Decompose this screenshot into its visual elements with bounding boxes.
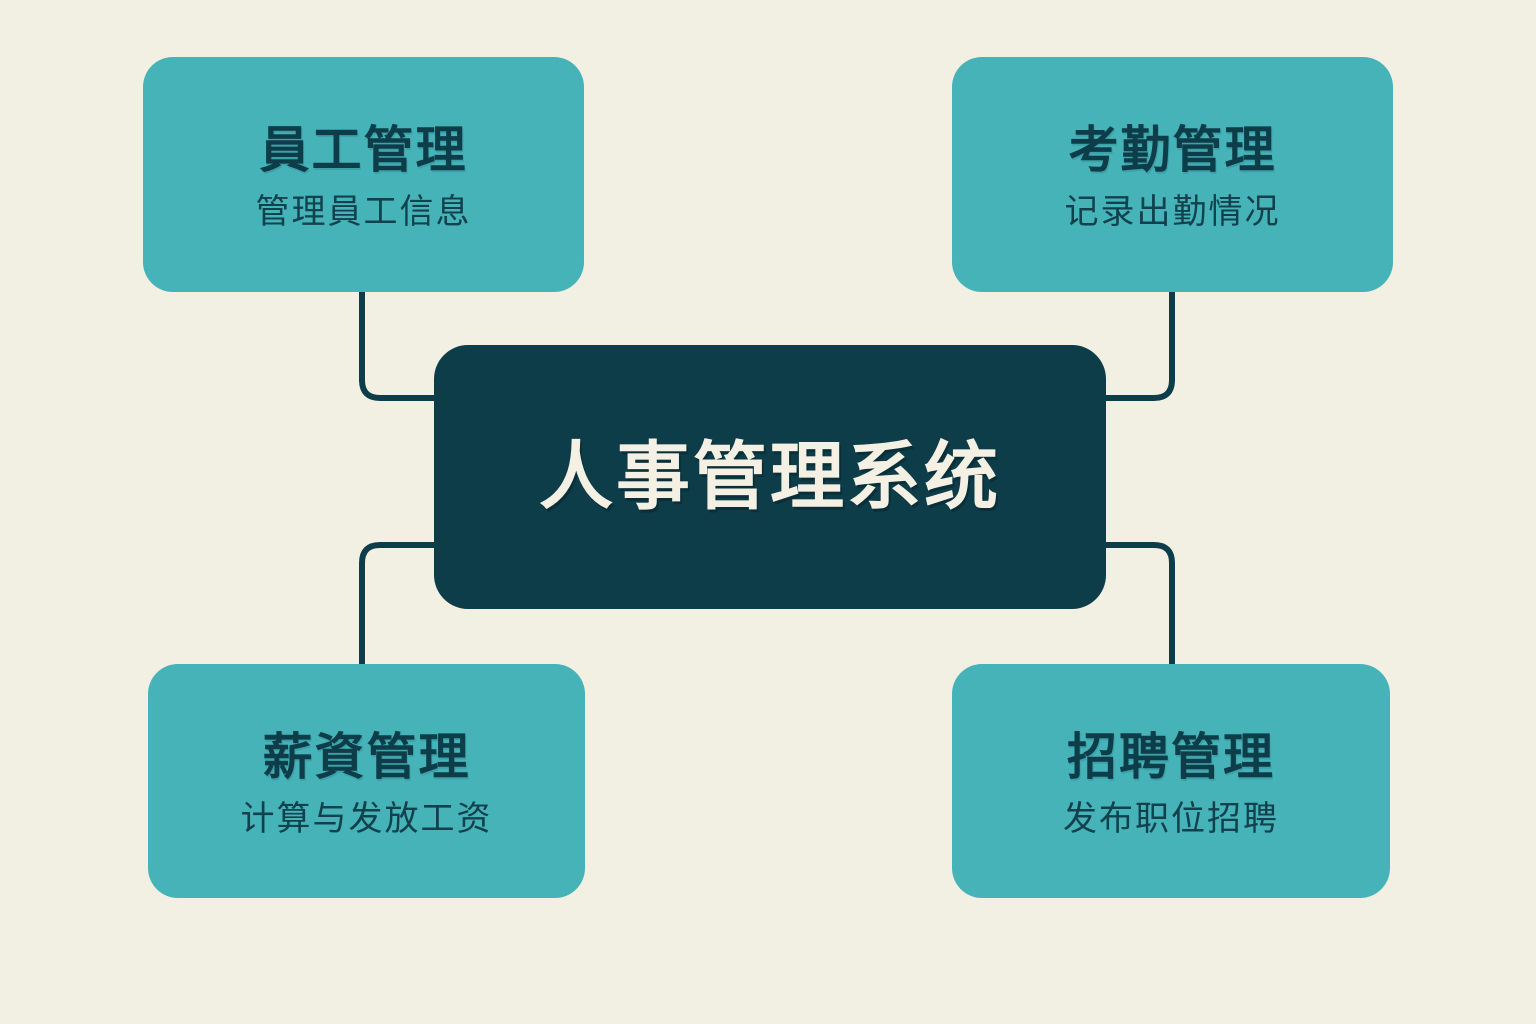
- node-title: 員工管理: [260, 122, 468, 178]
- node-title: 招聘管理: [1067, 729, 1275, 785]
- node-recruitment-management[interactable]: 招聘管理 发布职位招聘: [952, 664, 1390, 898]
- connector-center-to-recruitment: [1104, 545, 1172, 666]
- node-payroll-management[interactable]: 薪資管理 计算与发放工资: [148, 664, 585, 898]
- node-employee-management[interactable]: 員工管理 管理員工信息: [143, 57, 584, 292]
- node-subtitle: 管理員工信息: [256, 192, 472, 233]
- node-subtitle: 计算与发放工资: [241, 799, 493, 840]
- diagram-canvas: 員工管理 管理員工信息 考勤管理 记录出勤情况 人事管理系统 薪資管理 计算与发…: [0, 0, 1536, 1024]
- center-node-title: 人事管理系统: [539, 436, 1001, 517]
- node-subtitle: 发布职位招聘: [1063, 799, 1279, 840]
- node-title: 考勤管理: [1069, 122, 1277, 178]
- connector-center-to-payroll: [362, 545, 436, 666]
- connector-employee-to-center: [362, 292, 436, 398]
- node-hr-management-system[interactable]: 人事管理系统: [434, 345, 1106, 609]
- node-attendance-management[interactable]: 考勤管理 记录出勤情况: [952, 57, 1393, 292]
- node-subtitle: 记录出勤情况: [1065, 192, 1281, 233]
- connector-attendance-to-center: [1104, 292, 1172, 398]
- node-title: 薪資管理: [263, 729, 471, 785]
